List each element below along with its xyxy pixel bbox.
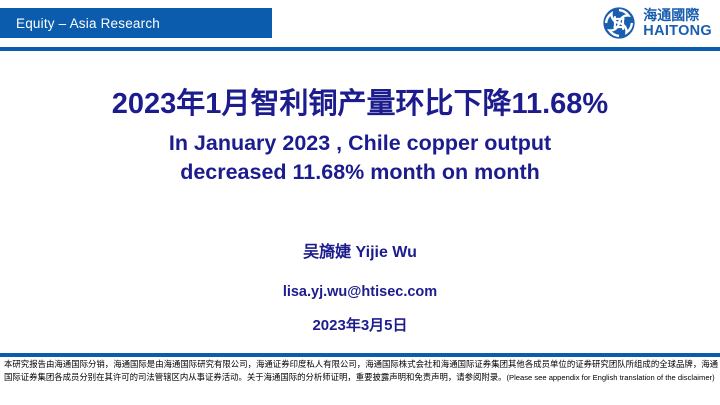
author-block: 吴旖婕 Yijie Wu lisa.yj.wu@htisec.com 2023年… [0,243,720,335]
page-title-en-line1: In January 2023 , Chile copper output [0,129,720,158]
footer-disclaimer-en: (Please see appendix for English transla… [507,373,715,382]
page-title-cn: 2023年1月智利铜产量环比下降11.68% [0,88,720,121]
footer-disclaimer: 本研究报告由海通国际分销，海通国际是由海通国际研究有限公司，海通证券印度私人有限… [4,358,718,384]
header-banner: Equity – Asia Research [0,8,272,38]
footer-divider-rule [0,353,720,357]
logo-name-cn: 海通國際 [643,8,712,22]
publication-date: 2023年3月5日 [0,314,720,335]
header-banner-label: Equity – Asia Research [16,16,160,31]
haitong-logo: 海通國際 HAITONG [602,6,712,40]
author-name: 吴旖婕 Yijie Wu [0,243,720,262]
header-divider-rule [0,47,720,51]
author-email[interactable]: lisa.yj.wu@htisec.com [0,284,720,300]
logo-name-en: HAITONG [643,24,712,39]
title-block: 2023年1月智利铜产量环比下降11.68% In January 2023 ,… [0,88,720,187]
haitong-circular-emblem-icon [602,6,636,40]
page-title-en-line2: decreased 11.68% month on month [0,158,720,187]
slide-root: Equity – Asia Research [0,0,720,405]
logo-wordmark: 海通國際 HAITONG [643,8,712,39]
